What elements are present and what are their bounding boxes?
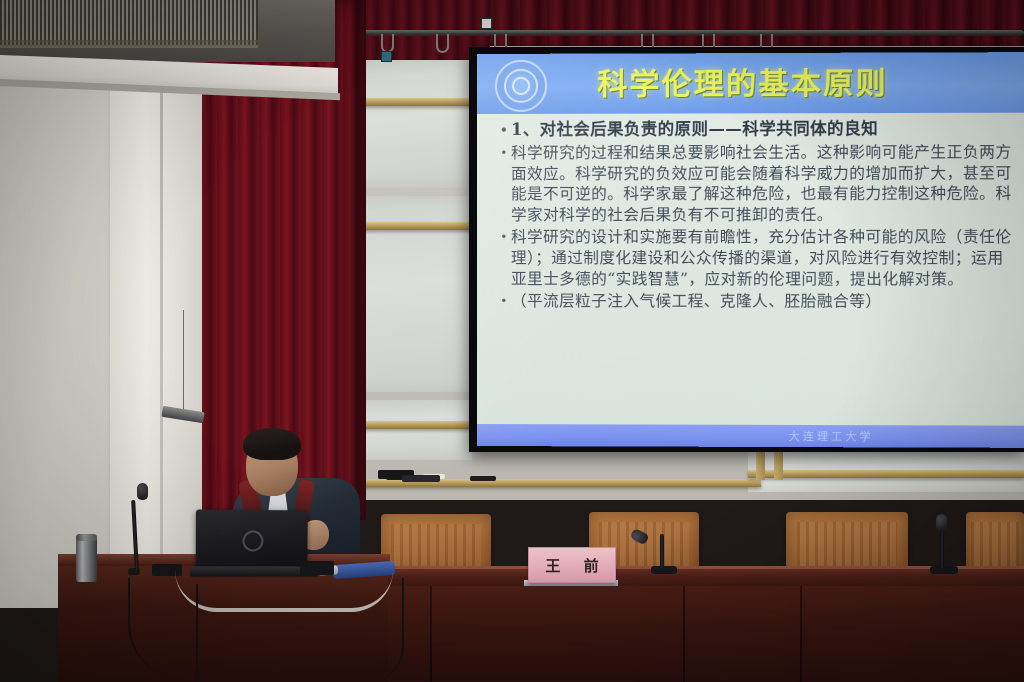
name-placard: 王 前 <box>528 547 616 583</box>
bullet-marker-icon: • <box>497 143 511 164</box>
table-seam-1 <box>430 586 432 682</box>
bullet-marker-icon: • <box>497 227 511 248</box>
bracket-wire <box>183 310 184 414</box>
curtain-clip-1 <box>381 51 392 62</box>
dell-logo-icon <box>242 530 263 551</box>
curtain-rail <box>320 30 1024 36</box>
curtain-hook-2 <box>436 34 449 53</box>
projection-screen: 科学伦理的基本原则 • 1、对社会后果负责的原则——科学共同体的良知 • 科学研… <box>477 52 1024 448</box>
mic-base-right <box>930 566 958 574</box>
black-cable-mid <box>196 584 199 682</box>
slide-footer-text: 大连理工大学 <box>789 428 874 444</box>
slide-bullet-1: • 1、对社会后果负责的原则——科学共同体的良知 <box>497 119 1019 141</box>
thermos-flask <box>76 536 97 582</box>
slide-bullet-2-text: 科学研究的过程和结果总要影响社会生活。这种影响可能产生正负两方面效应。科学研究的… <box>511 142 1019 225</box>
speaker-hair <box>243 428 301 460</box>
whiteboard-rail-lower-right <box>748 470 1024 478</box>
slide-bullet-4-text: （平流层粒子注入气候工程、克隆人、胚胎融合等） <box>511 291 882 312</box>
mic-neck-center <box>660 534 664 568</box>
slide-bullet-3-text: 科学研究的设计和实施要有前瞻性，充分估计各种可能的风险（责任伦理）；通过制度化建… <box>511 227 1019 289</box>
slide-bullet-4: • （平流层粒子注入气候工程、克隆人、胚胎融合等） <box>497 291 1019 313</box>
slide-body: • 1、对社会后果负责的原则——科学共同体的良知 • 科学研究的过程和结果总要影… <box>477 113 1024 426</box>
slide-bullet-2: • 科学研究的过程和结果总要影响社会生活。这种影响可能产生正负两方面效应。科学研… <box>497 142 1019 225</box>
university-emblem-icon <box>495 60 547 112</box>
screenshot-scene: 科学伦理的基本原则 • 1、对社会后果负责的原则——科学共同体的良知 • 科学研… <box>0 0 1024 682</box>
mic-base-center <box>651 566 677 574</box>
slide-bullet-1-text: 1、对社会后果负责的原则——科学共同体的良知 <box>511 119 878 140</box>
bullet-marker-icon: • <box>497 120 511 141</box>
thermos-cap <box>76 534 97 541</box>
slide-footer: 大连理工大学 <box>477 424 1024 448</box>
whiteboard-marker-b <box>470 476 496 481</box>
bullet-marker-icon: • <box>497 291 511 312</box>
laptop-lid <box>196 509 308 572</box>
mic-neck-right <box>940 528 944 568</box>
table-seam-3 <box>800 586 802 682</box>
shelf-device <box>402 475 440 482</box>
slide-title-band: 科学伦理的基本原则 <box>477 52 1024 114</box>
slide-title: 科学伦理的基本原则 <box>597 58 1019 103</box>
vent-shadow <box>0 40 262 50</box>
mic-head-left <box>137 483 148 500</box>
rail-post-right <box>774 450 783 480</box>
slide-bullet-3: • 科学研究的设计和实施要有前瞻性，充分估计各种可能的风险（责任伦理）；通过制度… <box>497 227 1019 289</box>
white-cable <box>175 570 393 612</box>
table-seam-2 <box>683 586 685 682</box>
mic-head-right <box>936 514 947 531</box>
curtain-clip-2 <box>481 18 492 29</box>
wall-pillar <box>110 66 202 606</box>
name-placard-text: 王 前 <box>536 555 607 576</box>
rail-post-left <box>756 450 765 480</box>
pillar-edge <box>160 66 163 606</box>
